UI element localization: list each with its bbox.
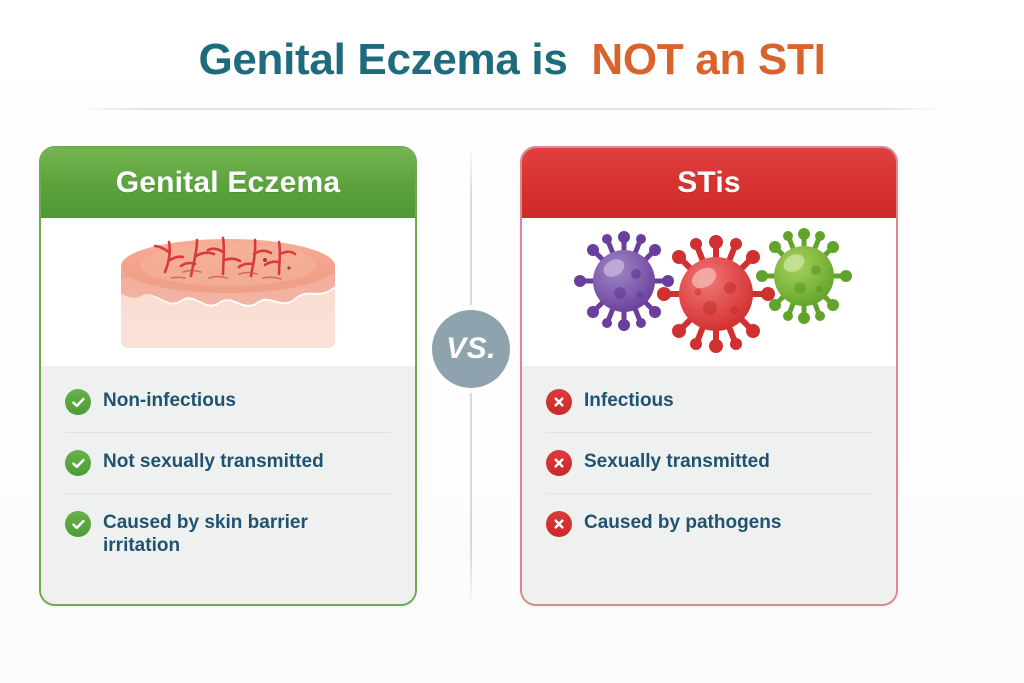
virus-green [756, 228, 852, 324]
card-header-genital-eczema: Genital Eczema [41, 148, 415, 218]
card-header-label: STis [677, 166, 741, 200]
card-header-stis: STis [522, 148, 896, 218]
check-circle-icon [65, 511, 91, 537]
check-circle-icon [65, 389, 91, 415]
virus-red [657, 235, 775, 353]
infographic-page: Genital Eczema is NOT an STI Genital Ecz… [0, 0, 1024, 683]
list-item-label: Caused by pathogens [584, 510, 781, 534]
list-item: Non-infectious [65, 372, 391, 433]
title-divider [86, 108, 938, 110]
x-circle-icon [546, 450, 572, 476]
list-item-label: Caused by skin barrier irritation [103, 510, 353, 557]
illustration-viruses [522, 218, 896, 366]
list-item: Infectious [546, 372, 872, 433]
card-header-label: Genital Eczema [116, 166, 341, 200]
check-circle-icon [65, 450, 91, 476]
list-item-label: Sexually transmitted [584, 449, 770, 473]
feature-list-genital-eczema: Non-infectious Not sexually transmitted … [41, 366, 415, 604]
card-genital-eczema: Genital Eczema [39, 146, 417, 606]
x-circle-icon [546, 389, 572, 415]
list-item: Caused by skin barrier irritation [65, 494, 391, 573]
versus-badge: VS. [432, 310, 510, 388]
title-part-orange: NOT an STI [591, 35, 825, 84]
feature-list-stis: Infectious Sexually transmitted Caused b… [522, 366, 896, 604]
card-stis: STis [520, 146, 898, 606]
x-circle-icon [546, 511, 572, 537]
versus-label: VS. [446, 332, 496, 366]
list-item-label: Non-infectious [103, 388, 236, 412]
page-title: Genital Eczema is NOT an STI [0, 36, 1024, 84]
list-item: Not sexually transmitted [65, 433, 391, 494]
illustration-irritated-skin [41, 218, 415, 366]
virus-particles-icon [564, 228, 854, 356]
virus-purple [574, 231, 674, 331]
list-item-label: Not sexually transmitted [103, 449, 324, 473]
list-item-label: Infectious [584, 388, 674, 412]
list-item: Sexually transmitted [546, 433, 872, 494]
list-item: Caused by pathogens [546, 494, 872, 554]
irritated-skin-icon [113, 230, 343, 355]
title-part-teal: Genital Eczema is [198, 35, 567, 84]
